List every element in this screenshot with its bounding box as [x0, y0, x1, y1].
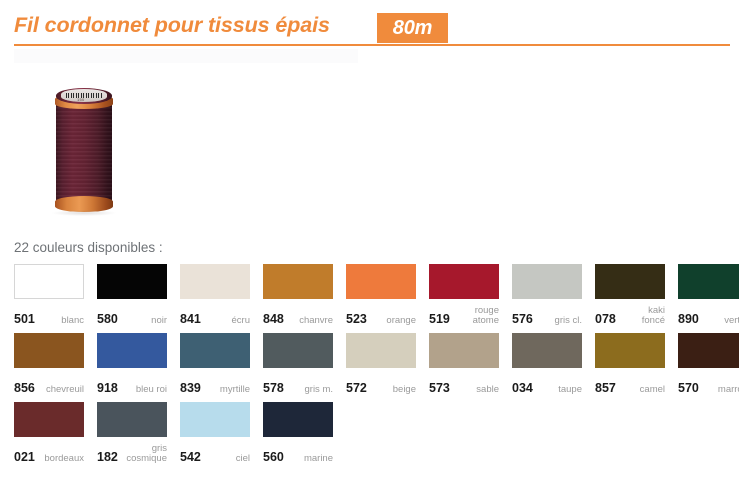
swatch-chip[interactable] — [14, 333, 84, 368]
swatch-code: 839 — [180, 381, 201, 395]
palette-heading: 22 couleurs disponibles : — [14, 240, 163, 255]
color-swatch-890[interactable]: 890vert f. — [678, 264, 739, 326]
swatch-meta: 572beige — [346, 373, 416, 395]
swatch-meta: 560marine — [263, 442, 333, 464]
swatch-meta: 570marron — [678, 373, 739, 395]
swatch-chip[interactable] — [678, 333, 739, 368]
swatch-meta: 021bordeaux — [14, 442, 84, 464]
color-swatch-519[interactable]: 519rouge atome — [429, 264, 499, 326]
swatch-code: 580 — [97, 312, 118, 326]
thread-spool-icon: 150 — [56, 88, 112, 214]
swatch-chip[interactable] — [263, 333, 333, 368]
swatch-name: taupe — [558, 385, 582, 395]
swatch-name: rouge atome — [473, 306, 499, 326]
swatch-code: 576 — [512, 312, 533, 326]
swatch-code: 570 — [678, 381, 699, 395]
swatch-name: écru — [232, 316, 250, 326]
swatch-chip[interactable] — [97, 402, 167, 437]
swatch-code: 848 — [263, 312, 284, 326]
swatch-code: 034 — [512, 381, 533, 395]
swatch-name: vert f. — [724, 316, 739, 326]
swatch-name: chevreuil — [46, 385, 84, 395]
color-swatch-034[interactable]: 034taupe — [512, 333, 582, 395]
color-swatch-542[interactable]: 542ciel — [180, 402, 250, 464]
swatch-name: orange — [386, 316, 416, 326]
swatch-meta: 501blanc — [14, 304, 84, 326]
swatch-name: myrtille — [220, 385, 250, 395]
spool-thread-body — [56, 99, 112, 205]
swatch-code: 841 — [180, 312, 201, 326]
swatch-code: 890 — [678, 312, 699, 326]
color-swatch-182[interactable]: 182gris cosmique — [97, 402, 167, 464]
swatch-meta: 542ciel — [180, 442, 250, 464]
swatch-code: 078 — [595, 312, 616, 326]
swatch-chip[interactable] — [595, 264, 665, 299]
swatch-chip[interactable] — [14, 402, 84, 437]
swatch-meta: 839myrtille — [180, 373, 250, 395]
swatch-chip[interactable] — [263, 264, 333, 299]
color-swatch-572[interactable]: 572beige — [346, 333, 416, 395]
swatch-chip[interactable] — [346, 264, 416, 299]
color-swatch-580[interactable]: 580noir — [97, 264, 167, 326]
color-palette: 501blanc580noir841écru848chanvre523orang… — [14, 264, 730, 471]
swatch-chip[interactable] — [429, 264, 499, 299]
swatch-chip[interactable] — [263, 402, 333, 437]
color-swatch-856[interactable]: 856chevreuil — [14, 333, 84, 395]
swatch-meta: 841écru — [180, 304, 250, 326]
swatch-chip[interactable] — [512, 333, 582, 368]
swatch-name: gris m. — [305, 385, 334, 395]
swatch-chip[interactable] — [512, 264, 582, 299]
swatch-name: gris cl. — [555, 316, 582, 326]
swatch-name: kaki foncé — [642, 306, 665, 326]
page-header: Fil cordonnet pour tissus épais 80m — [0, 0, 739, 50]
swatch-name: bordeaux — [44, 454, 84, 464]
swatch-chip[interactable] — [678, 264, 739, 299]
spool-label-code: 150 — [77, 97, 85, 102]
swatch-meta: 034taupe — [512, 373, 582, 395]
swatch-chip[interactable] — [180, 264, 250, 299]
swatch-name: beige — [393, 385, 416, 395]
color-swatch-578[interactable]: 578gris m. — [263, 333, 333, 395]
swatch-name: camel — [640, 385, 665, 395]
product-image: 150 — [14, 62, 174, 230]
swatch-name: bleu roi — [136, 385, 167, 395]
swatch-meta: 857camel — [595, 373, 665, 395]
swatch-name: gris cosmique — [126, 444, 167, 464]
swatch-code: 560 — [263, 450, 284, 464]
swatch-code: 519 — [429, 312, 450, 326]
color-swatch-918[interactable]: 918bleu roi — [97, 333, 167, 395]
swatch-meta: 890vert f. — [678, 304, 739, 326]
color-swatch-839[interactable]: 839myrtille — [180, 333, 250, 395]
swatch-chip[interactable] — [97, 333, 167, 368]
length-badge: 80m — [377, 13, 448, 43]
spool-shadow — [52, 210, 116, 216]
swatch-meta: 078kaki foncé — [595, 304, 665, 326]
swatch-code: 501 — [14, 312, 35, 326]
color-swatch-021[interactable]: 021bordeaux — [14, 402, 84, 464]
swatch-code: 021 — [14, 450, 35, 464]
swatch-code: 856 — [14, 381, 35, 395]
swatch-meta: 848chanvre — [263, 304, 333, 326]
swatch-name: blanc — [61, 316, 84, 326]
color-row: 501blanc580noir841écru848chanvre523orang… — [14, 264, 730, 333]
color-row: 856chevreuil918bleu roi839myrtille578gri… — [14, 333, 730, 402]
swatch-name: chanvre — [299, 316, 333, 326]
swatch-code: 572 — [346, 381, 367, 395]
color-swatch-523[interactable]: 523orange — [346, 264, 416, 326]
swatch-code: 523 — [346, 312, 367, 326]
header-divider — [14, 44, 730, 46]
color-swatch-560[interactable]: 560marine — [263, 402, 333, 464]
swatch-chip[interactable] — [180, 333, 250, 368]
swatch-chip[interactable] — [97, 264, 167, 299]
color-swatch-501[interactable]: 501blanc — [14, 264, 84, 326]
color-swatch-857[interactable]: 857camel — [595, 333, 665, 395]
swatch-meta: 519rouge atome — [429, 304, 499, 326]
swatch-name: marron — [718, 385, 739, 395]
color-swatch-576[interactable]: 576gris cl. — [512, 264, 582, 326]
color-row: 021bordeaux182gris cosmique542ciel560mar… — [14, 402, 730, 471]
swatch-code: 542 — [180, 450, 201, 464]
swatch-code: 182 — [97, 450, 118, 464]
swatch-name: noir — [151, 316, 167, 326]
swatch-meta: 576gris cl. — [512, 304, 582, 326]
swatch-chip[interactable] — [14, 264, 84, 299]
swatch-meta: 182gris cosmique — [97, 442, 167, 464]
swatch-code: 857 — [595, 381, 616, 395]
color-swatch-573[interactable]: 573sable — [429, 333, 499, 395]
swatch-name: ciel — [236, 454, 250, 464]
swatch-code: 573 — [429, 381, 450, 395]
swatch-chip[interactable] — [346, 333, 416, 368]
color-swatch-848[interactable]: 848chanvre — [263, 264, 333, 326]
spool-barcode-label: 150 — [61, 89, 107, 102]
swatch-chip[interactable] — [429, 333, 499, 368]
swatch-code: 918 — [97, 381, 118, 395]
swatch-code: 578 — [263, 381, 284, 395]
swatch-chip[interactable] — [595, 333, 665, 368]
swatch-meta: 523orange — [346, 304, 416, 326]
color-swatch-078[interactable]: 078kaki foncé — [595, 264, 665, 326]
swatch-name: sable — [476, 385, 499, 395]
page-title: Fil cordonnet pour tissus épais — [14, 13, 330, 38]
swatch-meta: 856chevreuil — [14, 373, 84, 395]
color-swatch-570[interactable]: 570marron — [678, 333, 739, 395]
swatch-name: marine — [304, 454, 333, 464]
swatch-chip[interactable] — [180, 402, 250, 437]
color-swatch-841[interactable]: 841écru — [180, 264, 250, 326]
swatch-meta: 580noir — [97, 304, 167, 326]
swatch-meta: 573sable — [429, 373, 499, 395]
swatch-meta: 578gris m. — [263, 373, 333, 395]
hero-background-band — [14, 49, 358, 63]
swatch-meta: 918bleu roi — [97, 373, 167, 395]
